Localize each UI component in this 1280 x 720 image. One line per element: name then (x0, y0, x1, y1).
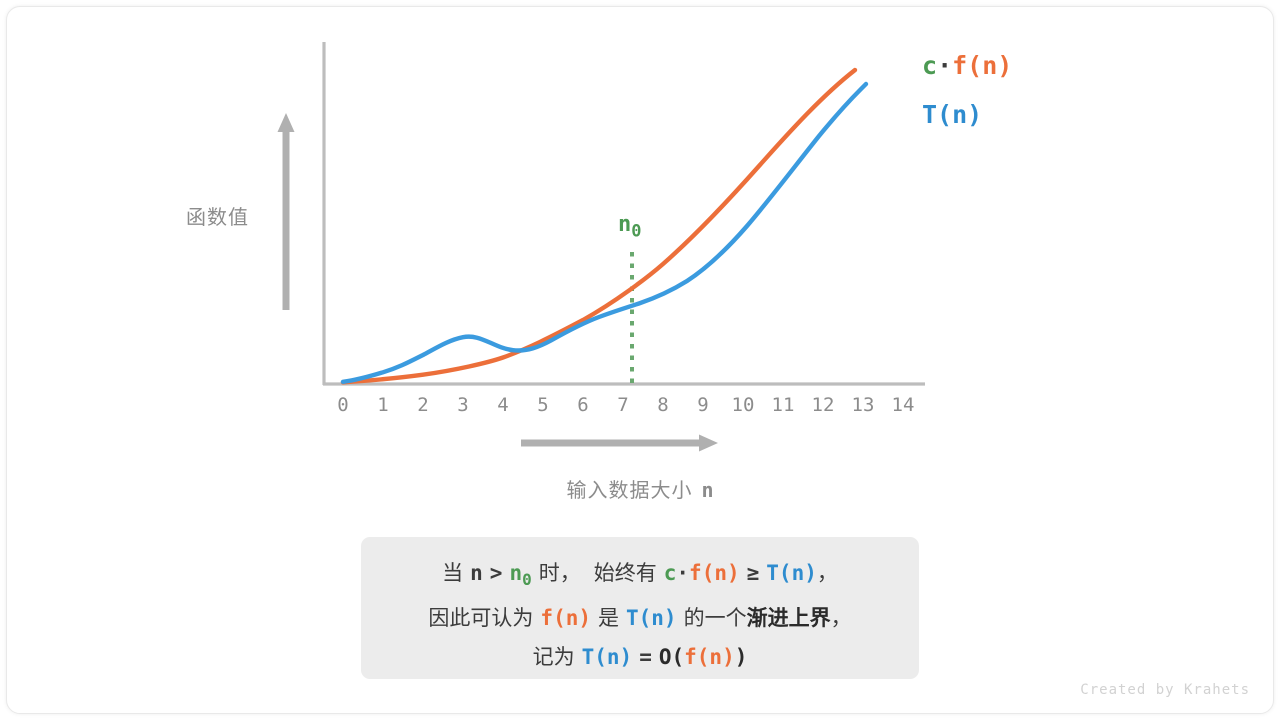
caption-l3-eq: = (639, 645, 652, 669)
x-tick-12: 12 (803, 394, 843, 416)
caption-l3-f: f(n) (684, 645, 735, 669)
caption-l3-O-open: O( (659, 645, 684, 669)
curve-label-tn: T(n) (922, 100, 982, 129)
caption-l1-t3: 始终有 (594, 562, 657, 585)
caption-line-3: 记为T(n)=O(f(n)) (361, 638, 919, 677)
caption-l1-dot: · (676, 561, 689, 585)
x-tick-7: 7 (603, 394, 643, 416)
x-tick-0: 0 (323, 394, 363, 416)
x-tick-14: 14 (883, 394, 923, 416)
caption-l1-comma: ， (817, 562, 838, 585)
curve-cfn (343, 70, 855, 382)
x-tick-10: 10 (723, 394, 763, 416)
caption-l1-c: c (664, 561, 677, 585)
y-axis-caption: 函数值 (186, 201, 249, 230)
x-axis-tick-labels: 0 1 2 3 4 5 6 7 8 9 10 11 12 13 14 (323, 394, 923, 422)
caption-l2-comma: ， (831, 607, 852, 630)
caption-l2-t3: 的一个 (684, 607, 747, 630)
curve-label-cfn-f: f(n) (952, 51, 1012, 80)
x-axis-caption: 输入数据大小n (0, 474, 1280, 503)
x-tick-6: 6 (563, 394, 603, 416)
x-axis-arrow (521, 435, 718, 452)
y-axis-arrow (278, 113, 295, 310)
caption-l2-t1: 因此可认为 (428, 607, 533, 630)
caption-l1-n: n (470, 561, 483, 585)
x-tick-4: 4 (483, 394, 523, 416)
n0-label-subscript: 0 (631, 221, 641, 241)
caption-l3-T: T(n) (582, 645, 633, 669)
caption-l2-T: T(n) (626, 606, 677, 630)
x-tick-2: 2 (403, 394, 443, 416)
credit-text: Created by Krahets (1080, 682, 1250, 698)
x-tick-3: 3 (443, 394, 483, 416)
caption-l1-t1: 当 (442, 562, 463, 585)
caption-box: 当n>n0时，始终有c·f(n)≥T(n)， 因此可认为f(n)是T(n)的一个… (361, 537, 919, 679)
caption-l2-t2: 是 (598, 607, 619, 630)
curve-tn (343, 84, 866, 382)
x-tick-13: 13 (843, 394, 883, 416)
figure-page: n0 c·f(n) T(n) 0 1 2 3 4 5 6 7 8 9 10 11… (0, 0, 1280, 720)
caption-l3-O-close: ) (735, 645, 748, 669)
caption-l1-f: f(n) (689, 561, 740, 585)
caption-l3-t1: 记为 (533, 646, 575, 669)
x-axis-caption-text: 输入数据大小 (566, 480, 692, 502)
caption-line-2: 因此可认为f(n)是T(n)的一个渐进上界， (361, 599, 919, 638)
caption-l1-gt: > (490, 561, 503, 585)
n0-label: n0 (618, 212, 642, 241)
caption-l1-t2: 时， (539, 562, 581, 585)
curve-label-cfn-c: c (922, 51, 937, 80)
x-axis-caption-var: n (701, 478, 713, 502)
x-tick-1: 1 (363, 394, 403, 416)
caption-line-1: 当n>n0时，始终有c·f(n)≥T(n)， (361, 554, 919, 599)
caption-l1-T: T(n) (766, 561, 817, 585)
caption-l2-strong: 渐进上界 (747, 607, 831, 630)
curve-label-cfn-dot: · (937, 51, 952, 80)
x-tick-9: 9 (683, 394, 723, 416)
n0-label-n: n (618, 212, 631, 237)
caption-l2-f: f(n) (540, 606, 591, 630)
caption-l1-n0-sub: 0 (522, 570, 532, 589)
x-tick-8: 8 (643, 394, 683, 416)
caption-l1-n0: n0 (509, 561, 531, 585)
x-tick-5: 5 (523, 394, 563, 416)
x-tick-11: 11 (763, 394, 803, 416)
curve-label-cfn: c·f(n) (922, 51, 1012, 80)
caption-l1-ge: ≥ (747, 561, 760, 585)
